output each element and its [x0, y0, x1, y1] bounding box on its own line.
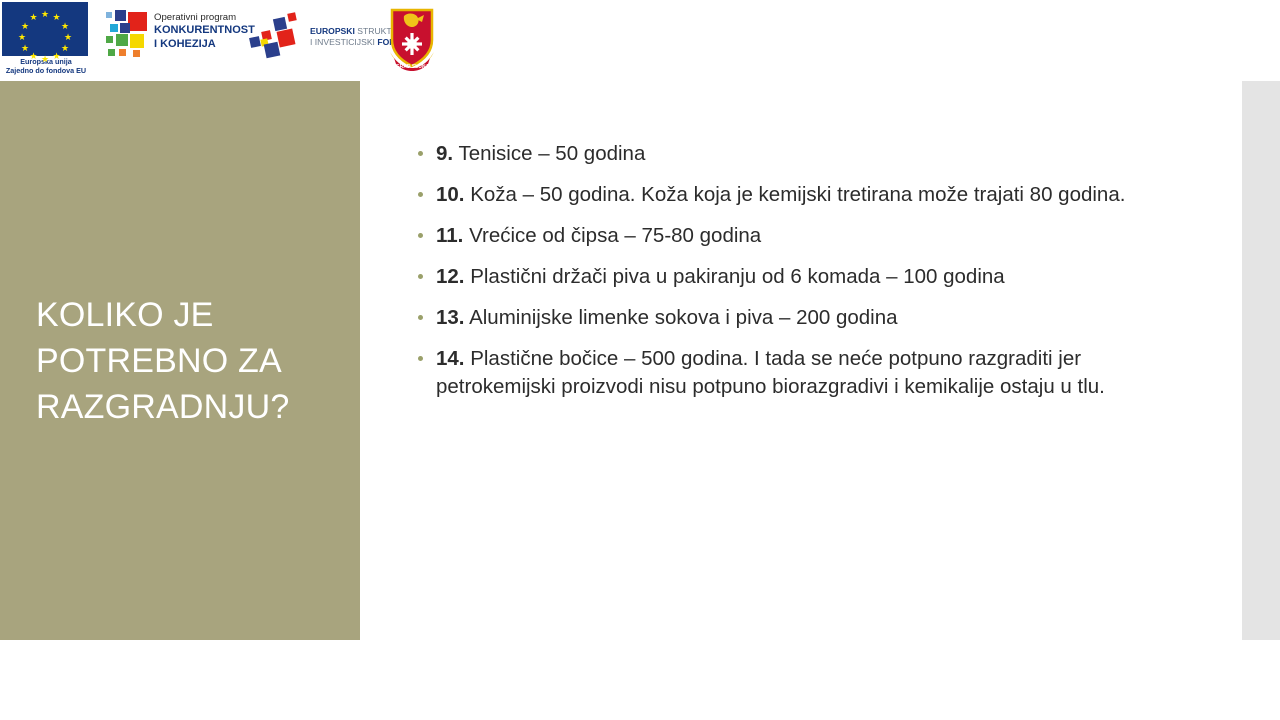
- right-side-panel: [1242, 81, 1280, 640]
- esif-line1: EUROPSKI STRUKTURNI: [310, 26, 380, 37]
- logo-strip: ★ ★ ★ ★ ★ ★ ★ ★ ★ ★ ★ ★ Europska unija Z…: [0, 0, 1280, 80]
- grad-slunj-coat-of-arms: GRAD SLUNJ: [386, 6, 438, 72]
- bullet-text: Koža – 50 godina. Koža koja je kemijski …: [470, 183, 1125, 206]
- esif-line2: I INVESTICIJSKI FONDOVI: [310, 37, 380, 48]
- opkk-mosaic-icon: [106, 10, 150, 56]
- bullet-number: 10.: [436, 183, 465, 206]
- esif-diamond-icon: [248, 12, 310, 60]
- bullet-number: 13.: [436, 306, 465, 329]
- slunj-shield-icon: GRAD SLUNJ: [386, 6, 438, 72]
- bullet-number: 11.: [436, 224, 463, 247]
- eu-flag-icon: ★ ★ ★ ★ ★ ★ ★ ★ ★ ★ ★ ★: [2, 2, 88, 56]
- page-title: KOLIKO JE POTREBNO ZA RAZGRADNJU?: [36, 292, 336, 430]
- presentation-slide: ★ ★ ★ ★ ★ ★ ★ ★ ★ ★ ★ ★ Europska unija Z…: [0, 0, 1280, 720]
- opkk-line2: KONKURENTNOST: [154, 24, 240, 38]
- list-item: 10. Koža – 50 godina. Koža koja je kemij…: [412, 181, 1172, 209]
- esif-line2-rest: I INVESTICIJSKI: [310, 37, 377, 47]
- slunj-ribbon-label: GRAD SLUNJ: [396, 64, 429, 70]
- list-item: 13. Aluminijske limenke sokova i piva – …: [412, 304, 1172, 332]
- bullet-text: Aluminijske limenke sokova i piva – 200 …: [469, 306, 897, 329]
- opkk-text-block: Operativni program KONKURENTNOST I KOHEZ…: [154, 12, 240, 51]
- eu-caption-line2: Zajedno do fondova EU: [2, 67, 90, 76]
- list-item: 12. Plastični držači piva u pakiranju od…: [412, 263, 1172, 291]
- europski-strukturni-i-investicijski-fondovi-logo: EUROPSKI STRUKTURNI I INVESTICIJSKI FOND…: [248, 12, 378, 60]
- bullet-text: Plastični držači piva u pakiranju od 6 k…: [470, 265, 1004, 288]
- bullet-text: Tenisice – 50 godina: [458, 142, 645, 165]
- bullet-text: Vrećice od čipsa – 75-80 godina: [469, 224, 761, 247]
- title-panel: KOLIKO JE POTREBNO ZA RAZGRADNJU?: [0, 81, 360, 640]
- list-item: 11. Vrećice od čipsa – 75-80 godina: [412, 222, 1172, 250]
- bullet-number: 9.: [436, 142, 453, 165]
- bullet-number: 14.: [436, 347, 465, 370]
- list-item: 9. Tenisice – 50 godina: [412, 140, 1172, 168]
- bullet-text: Plastične bočice – 500 godina. I tada se…: [436, 347, 1105, 398]
- list-item: 14. Plastične bočice – 500 godina. I tad…: [412, 345, 1172, 401]
- esif-line1-bold: EUROPSKI: [310, 26, 355, 36]
- operativni-program-konkurentnost-i-kohezija-logo: Operativni program KONKURENTNOST I KOHEZ…: [106, 8, 236, 58]
- eu-flag-logo: ★ ★ ★ ★ ★ ★ ★ ★ ★ ★ ★ ★ Europska unija Z…: [2, 2, 90, 78]
- opkk-line3: I KOHEZIJA: [154, 38, 240, 52]
- bullet-number: 12.: [436, 265, 465, 288]
- bullet-list: 9. Tenisice – 50 godina 10. Koža – 50 go…: [412, 140, 1172, 414]
- esif-text-block: EUROPSKI STRUKTURNI I INVESTICIJSKI FOND…: [310, 26, 380, 48]
- opkk-line1: Operativni program: [154, 12, 240, 24]
